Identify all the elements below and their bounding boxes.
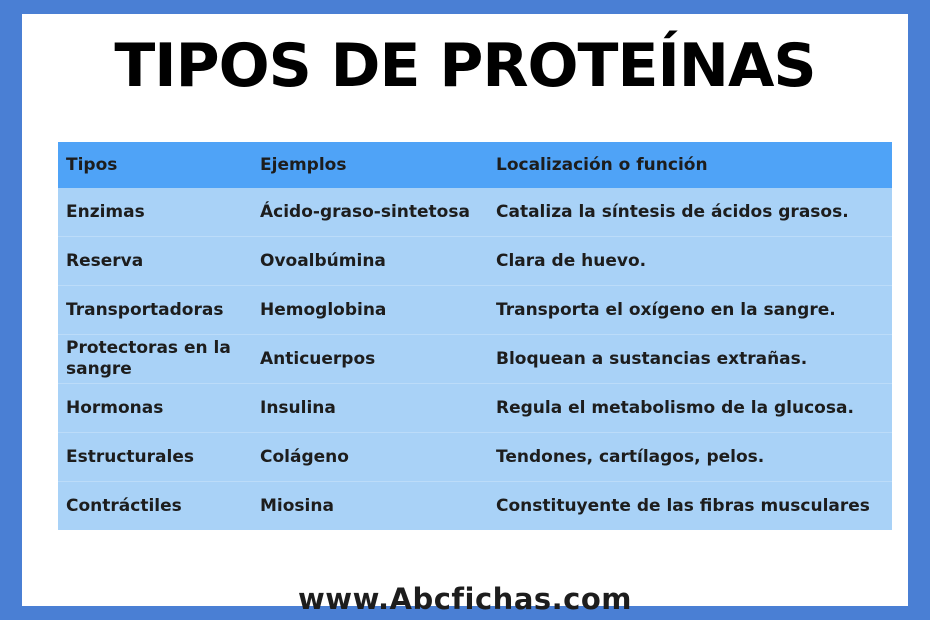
cell-tipo: Protectoras en la sangre (58, 335, 252, 384)
table-row: Contráctiles Miosina Constituyente de la… (58, 482, 892, 531)
protein-types-table: Tipos Ejemplos Localización o función En… (58, 142, 892, 530)
column-header-localizacion: Localización o función (488, 142, 892, 188)
poster-page: TIPOS DE PROTEÍNAS Tipos Ejemplos Locali… (0, 0, 930, 620)
cell-localizacion: Regula el metabolismo de la glucosa. (488, 384, 892, 433)
cell-ejemplo: Anticuerpos (252, 335, 488, 384)
table-row: Hormonas Insulina Regula el metabolismo … (58, 384, 892, 433)
protein-types-table-wrapper: Tipos Ejemplos Localización o función En… (58, 142, 868, 530)
cell-tipo: Hormonas (58, 384, 252, 433)
content-card: TIPOS DE PROTEÍNAS Tipos Ejemplos Locali… (22, 14, 908, 606)
cell-ejemplo: Hemoglobina (252, 286, 488, 335)
table-row: Estructurales Colágeno Tendones, cartíla… (58, 433, 892, 482)
table-row: Reserva Ovoalbúmina Clara de huevo. (58, 237, 892, 286)
table-row: Enzimas Ácido-graso-sintetosa Cataliza l… (58, 188, 892, 237)
cell-ejemplo: Ovoalbúmina (252, 237, 488, 286)
cell-ejemplo: Miosina (252, 482, 488, 531)
cell-localizacion: Cataliza la síntesis de ácidos grasos. (488, 188, 892, 237)
table-body: Enzimas Ácido-graso-sintetosa Cataliza l… (58, 188, 892, 530)
cell-tipo: Reserva (58, 237, 252, 286)
cell-ejemplo: Ácido-graso-sintetosa (252, 188, 488, 237)
column-header-ejemplos: Ejemplos (252, 142, 488, 188)
cell-tipo: Enzimas (58, 188, 252, 237)
table-header-row: Tipos Ejemplos Localización o función (58, 142, 892, 188)
page-title: TIPOS DE PROTEÍNAS (22, 30, 908, 102)
cell-tipo: Contráctiles (58, 482, 252, 531)
footer: www.Abcfichas.com (22, 582, 908, 616)
cell-localizacion: Transporta el oxígeno en la sangre. (488, 286, 892, 335)
cell-localizacion: Constituyente de las fibras musculares (488, 482, 892, 531)
cell-ejemplo: Insulina (252, 384, 488, 433)
column-header-tipos: Tipos (58, 142, 252, 188)
cell-localizacion: Bloquean a sustancias extrañas. (488, 335, 892, 384)
table-header: Tipos Ejemplos Localización o función (58, 142, 892, 188)
cell-localizacion: Tendones, cartílagos, pelos. (488, 433, 892, 482)
cell-tipo: Transportadoras (58, 286, 252, 335)
table-row: Transportadoras Hemoglobina Transporta e… (58, 286, 892, 335)
cell-localizacion: Clara de huevo. (488, 237, 892, 286)
cell-tipo: Estructurales (58, 433, 252, 482)
table-row: Protectoras en la sangre Anticuerpos Blo… (58, 335, 892, 384)
cell-ejemplo: Colágeno (252, 433, 488, 482)
site-watermark: www.Abcfichas.com (298, 582, 632, 616)
